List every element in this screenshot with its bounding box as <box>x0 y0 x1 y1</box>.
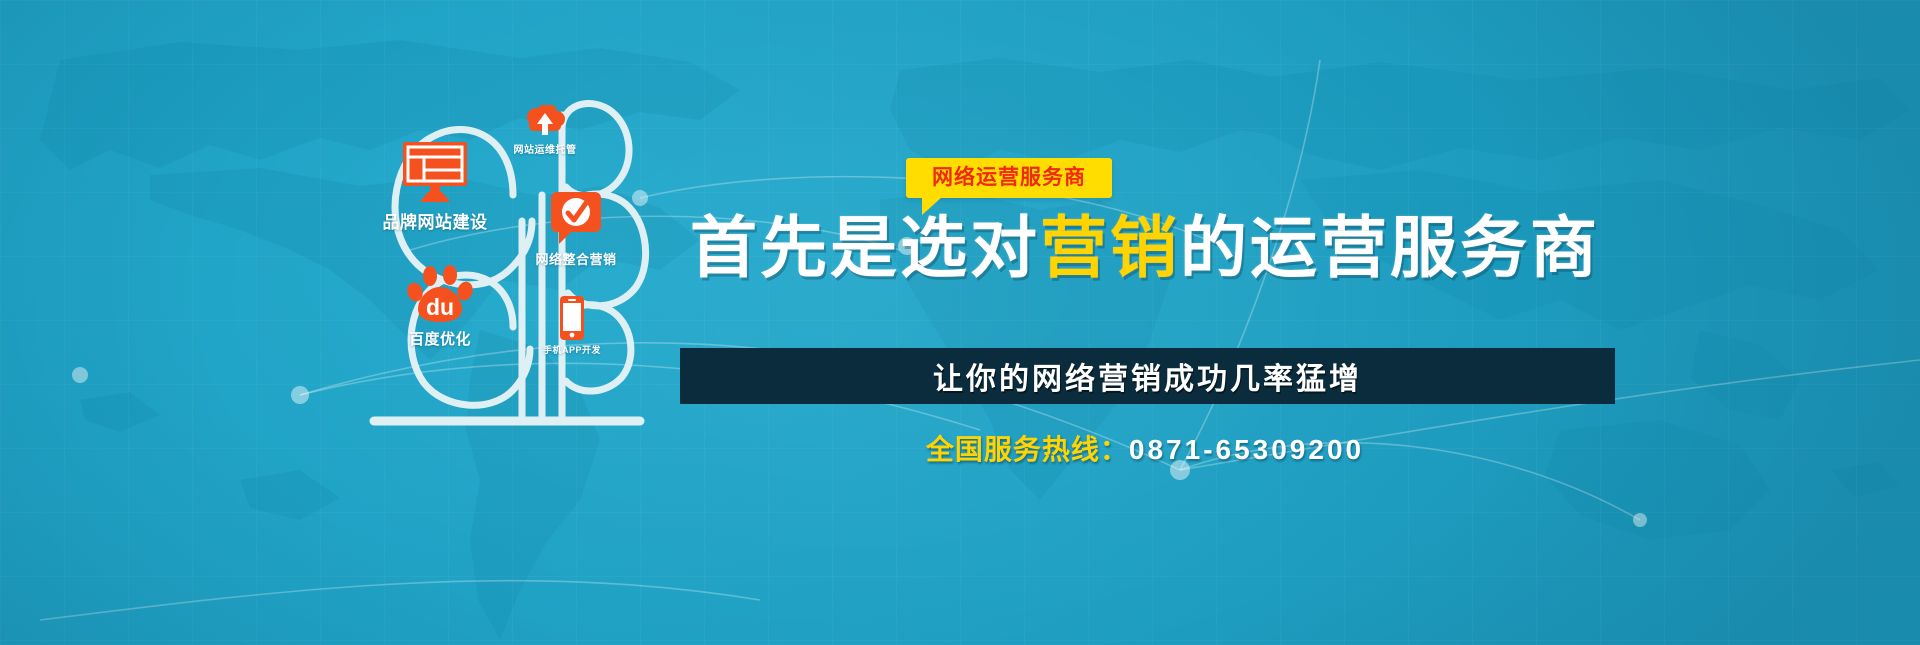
tree-node-baidu-optimization[interactable]: du 百度优化 <box>385 265 495 349</box>
tree-node-integrated-marketing[interactable]: 网络整合营销 <box>521 190 631 268</box>
tree-node-label: 手机APP开发 <box>532 343 612 356</box>
status-badge: 网络运营服务商 <box>906 158 1112 198</box>
baidu-icon-text: du <box>426 294 454 320</box>
cloud-upload-icon <box>500 105 590 139</box>
hotline-label: 全国服务热线： <box>926 434 1129 465</box>
subtitle-bar: 让你的网络营销成功几率猛增 <box>680 348 1615 404</box>
headline-part-2: 的运营服务商 <box>1180 211 1600 286</box>
hotline: 全国服务热线：0871-65309200 <box>680 428 1610 468</box>
baidu-paw-icon: du <box>385 265 495 325</box>
hotline-number[interactable]: 0871-65309200 <box>1129 434 1364 465</box>
tree-node-website-hosting[interactable]: 网站运维托管 <box>500 105 590 156</box>
headline-part-1: 首先是选对 <box>690 211 1040 286</box>
tree-node-label: 品牌网站建设 <box>360 208 510 233</box>
page-title: 首先是选对营销的运营服务商 <box>680 210 1610 287</box>
tree-node-label: 网站运维托管 <box>500 141 590 156</box>
subtitle-text: 让你的网络营销成功几率猛增 <box>933 354 1362 398</box>
monitor-icon <box>360 140 510 204</box>
tree-node-brand-website[interactable]: 品牌网站建设 <box>360 140 510 233</box>
promo-banner: 品牌网站建设 网站运维托管 网络整 <box>0 0 1920 645</box>
tree-node-mobile-app[interactable]: 手机APP开发 <box>532 295 612 356</box>
headline-highlight: 营销 <box>1040 211 1180 286</box>
banner-content: 网络运营服务商 首先是选对营销的运营服务商 让你的网络营销成功几率猛增 全国服务… <box>680 0 1680 645</box>
check-bubble-icon <box>521 190 631 246</box>
tree-node-label: 网络整合营销 <box>521 249 631 268</box>
mobile-phone-icon <box>532 295 612 341</box>
tree-node-label: 百度优化 <box>385 328 495 349</box>
